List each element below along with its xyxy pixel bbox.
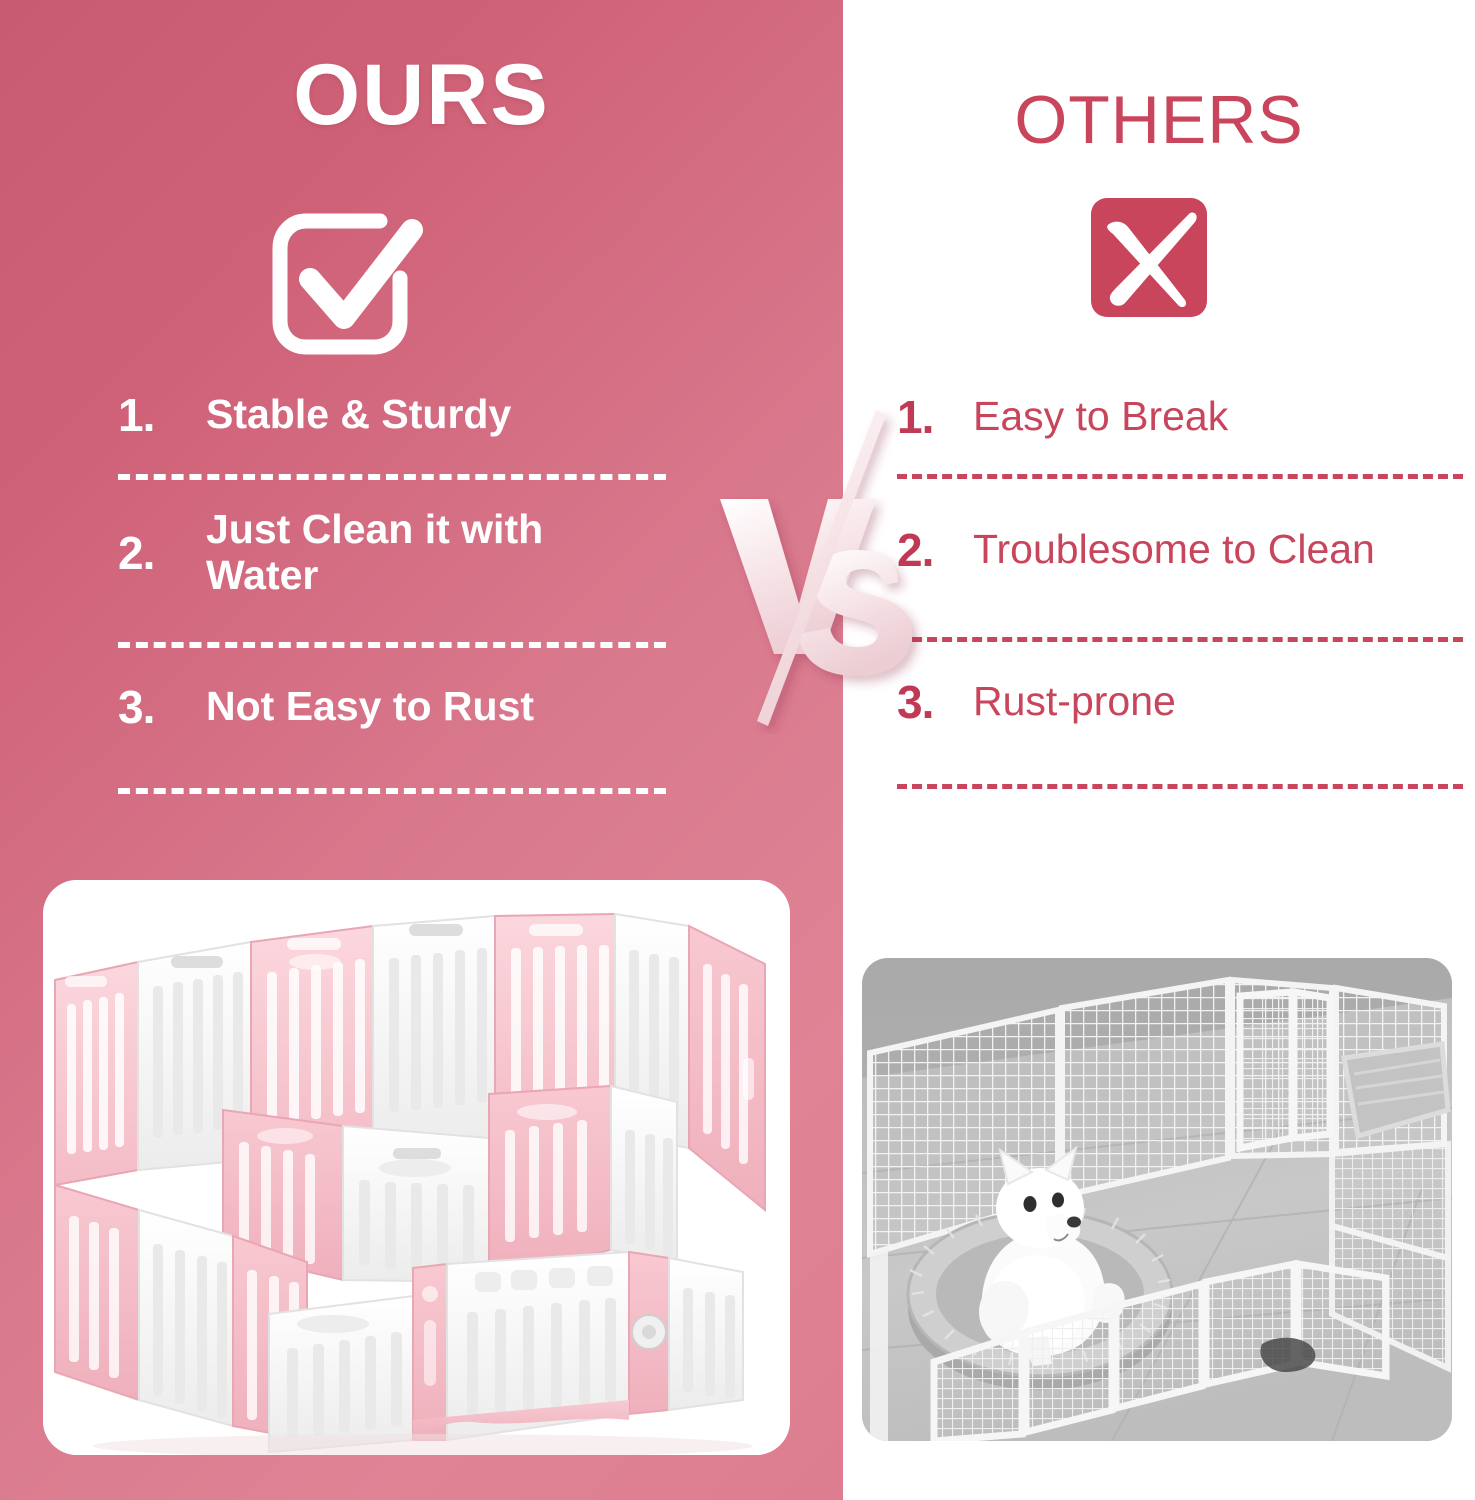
list-item: 1. Stable & Sturdy [118, 378, 666, 452]
others-feature-list: 1. Easy to Break 2. Troublesome to Clean… [897, 382, 1463, 789]
list-item: 2. Just Clean it with Water [118, 480, 666, 626]
list-item-label: Rust-prone [973, 679, 1463, 725]
list-item-number: 3. [897, 679, 973, 725]
list-item-number: 2. [118, 530, 206, 576]
list-item-label: Easy to Break [973, 394, 1463, 440]
spacer [897, 452, 1463, 474]
list-item-number: 1. [118, 392, 206, 438]
list-item-label: Not Easy to Rust [206, 684, 666, 730]
list-item-number: 2. [897, 527, 973, 573]
others-title: OTHERS [843, 86, 1475, 154]
spacer [897, 621, 1463, 637]
list-item-label: Stable & Sturdy [206, 392, 666, 438]
x-cross-icon [1089, 196, 1209, 319]
comparison-infographic: OURS 1. Stable & Sturdy 2. Just Clean it… [0, 0, 1475, 1500]
list-item-label: Troublesome to Clean [973, 527, 1463, 573]
list-item: 3. Rust-prone [897, 642, 1463, 762]
list-item: 3. Not Easy to Rust [118, 648, 666, 766]
checkbox-check-icon [262, 203, 427, 363]
ours-product-photo [43, 880, 790, 1455]
ours-title: OURS [0, 52, 843, 138]
list-divider [897, 784, 1463, 789]
list-divider [118, 788, 666, 794]
list-item-number: 3. [118, 684, 206, 730]
spacer [897, 762, 1463, 784]
spacer [118, 626, 666, 642]
ours-feature-list: 1. Stable & Sturdy 2. Just Clean it with… [118, 378, 666, 794]
list-item: 2. Troublesome to Clean [897, 479, 1463, 621]
list-item-label: Just Clean it with Water [206, 507, 666, 599]
spacer [118, 766, 666, 788]
list-item: 1. Easy to Break [897, 382, 1463, 452]
others-product-photo [862, 958, 1452, 1441]
list-item-number: 1. [897, 394, 973, 440]
spacer [118, 452, 666, 474]
